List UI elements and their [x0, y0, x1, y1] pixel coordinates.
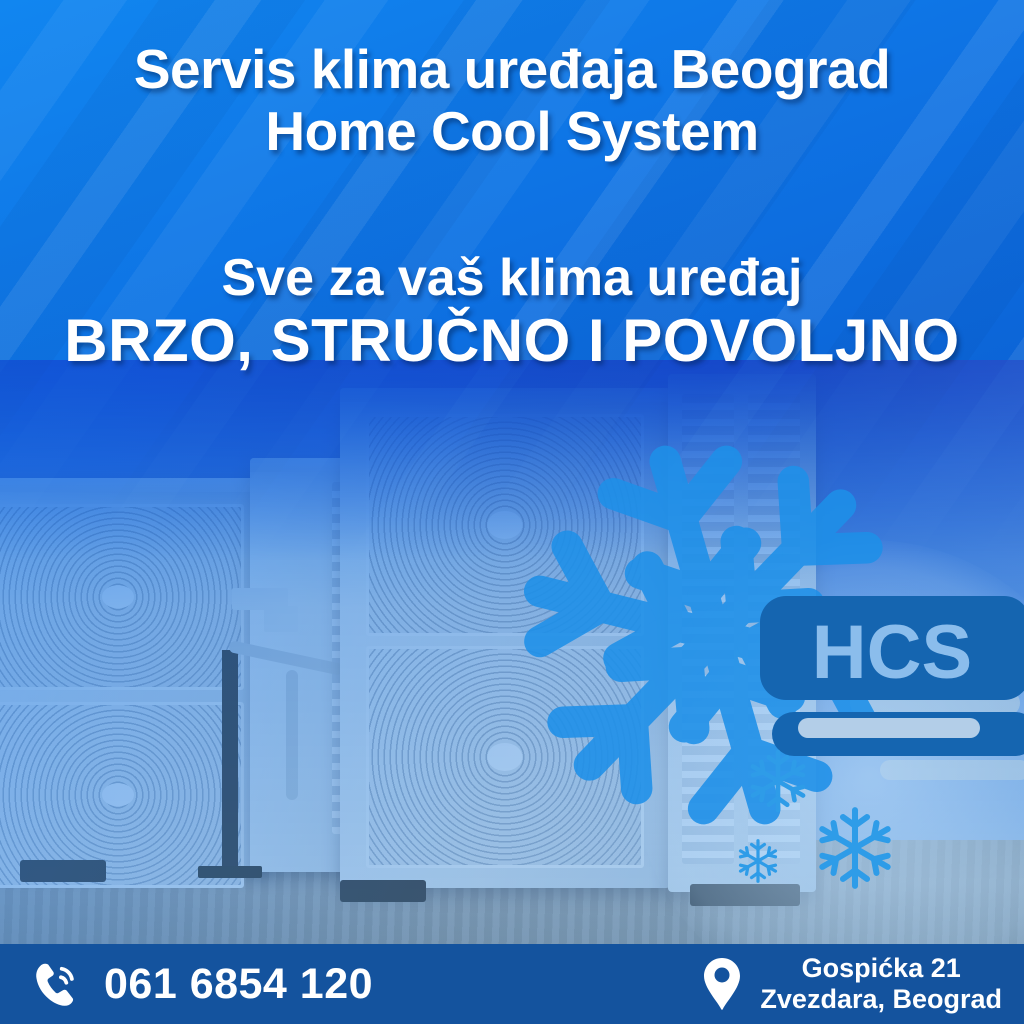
- logo-text: HCS: [812, 610, 972, 695]
- address-contact[interactable]: Gospićka 21 Zvezdara, Beograd: [700, 953, 1002, 1015]
- promotional-poster: HCS: [0, 0, 1024, 1024]
- phone-number: 061 6854 120: [104, 960, 373, 1009]
- headline-line-1: Servis klima uređaja Beograd: [0, 38, 1024, 100]
- snowflake-icon: [735, 838, 781, 884]
- tagline-line-2: BRZO, STRUČNO I POVOLJNO: [0, 308, 1024, 374]
- snowflake-icon: [812, 805, 898, 891]
- logo-airflow-line: [798, 718, 980, 738]
- hcs-logo: HCS: [760, 588, 1024, 768]
- tagline-line-1: Sve za vaš klima uređaj: [0, 248, 1024, 308]
- address-line-2: Zvezdara, Beograd: [760, 984, 1002, 1015]
- contact-footer-bar: 061 6854 120 Gospićka 21 Zvezdara, Beogr…: [0, 944, 1024, 1024]
- phone-call-icon: [28, 957, 82, 1011]
- address-lines: Gospićka 21 Zvezdara, Beograd: [760, 953, 1002, 1015]
- poster-text-block: Servis klima uređaja Beograd Home Cool S…: [0, 0, 1024, 374]
- address-line-1: Gospićka 21: [760, 953, 1002, 984]
- headline-line-2: Home Cool System: [0, 100, 1024, 162]
- snowflake-icon: [745, 748, 811, 814]
- phone-contact[interactable]: 061 6854 120: [28, 957, 373, 1011]
- map-pin-icon: [700, 956, 744, 1012]
